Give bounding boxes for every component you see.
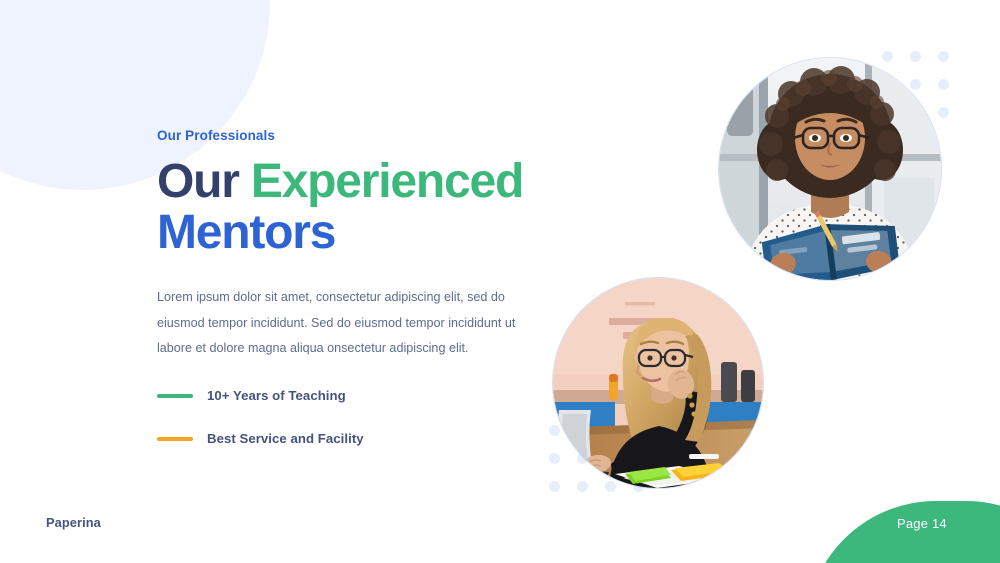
dot [938,107,949,118]
dot [577,481,588,492]
page-number-arc-decoration [806,501,1000,563]
dot [882,51,893,62]
dot [910,79,921,90]
mentor-photo-bottom [553,278,763,488]
feature-list: 10+ Years of Teaching Best Service and F… [157,383,532,452]
dot [605,481,616,492]
dot [938,79,949,90]
dot [910,51,921,62]
headline-word-mentors: Mentors [157,208,532,259]
dot [549,453,560,464]
feature-item-years-of-teaching: 10+ Years of Teaching [157,383,532,409]
page-number-label: Page 14 [897,516,947,531]
slide-canvas: Our Professionals Our Experienced Mentor… [0,0,1000,563]
mentor-photo-top [719,58,941,280]
kicker-label: Our Professionals [157,128,532,144]
dot [549,481,560,492]
feature-dash-marker-icon [157,394,193,398]
feature-label: Best Service and Facility [207,431,364,446]
page-title: Our Experienced Mentors [157,157,532,259]
headline-word-experienced: Experienced [251,155,523,208]
body-paragraph: Lorem ipsum dolor sit amet, consectetur … [157,285,529,362]
feature-label: 10+ Years of Teaching [207,388,346,403]
footer-brand: Paperina [46,515,101,530]
dot [938,51,949,62]
dot [549,425,560,436]
slide-content: Our Professionals Our Experienced Mentor… [157,128,532,469]
headline-word-our: Our [157,155,251,208]
feature-dash-marker-icon [157,437,193,441]
feature-item-service-and-facility: Best Service and Facility [157,426,532,452]
